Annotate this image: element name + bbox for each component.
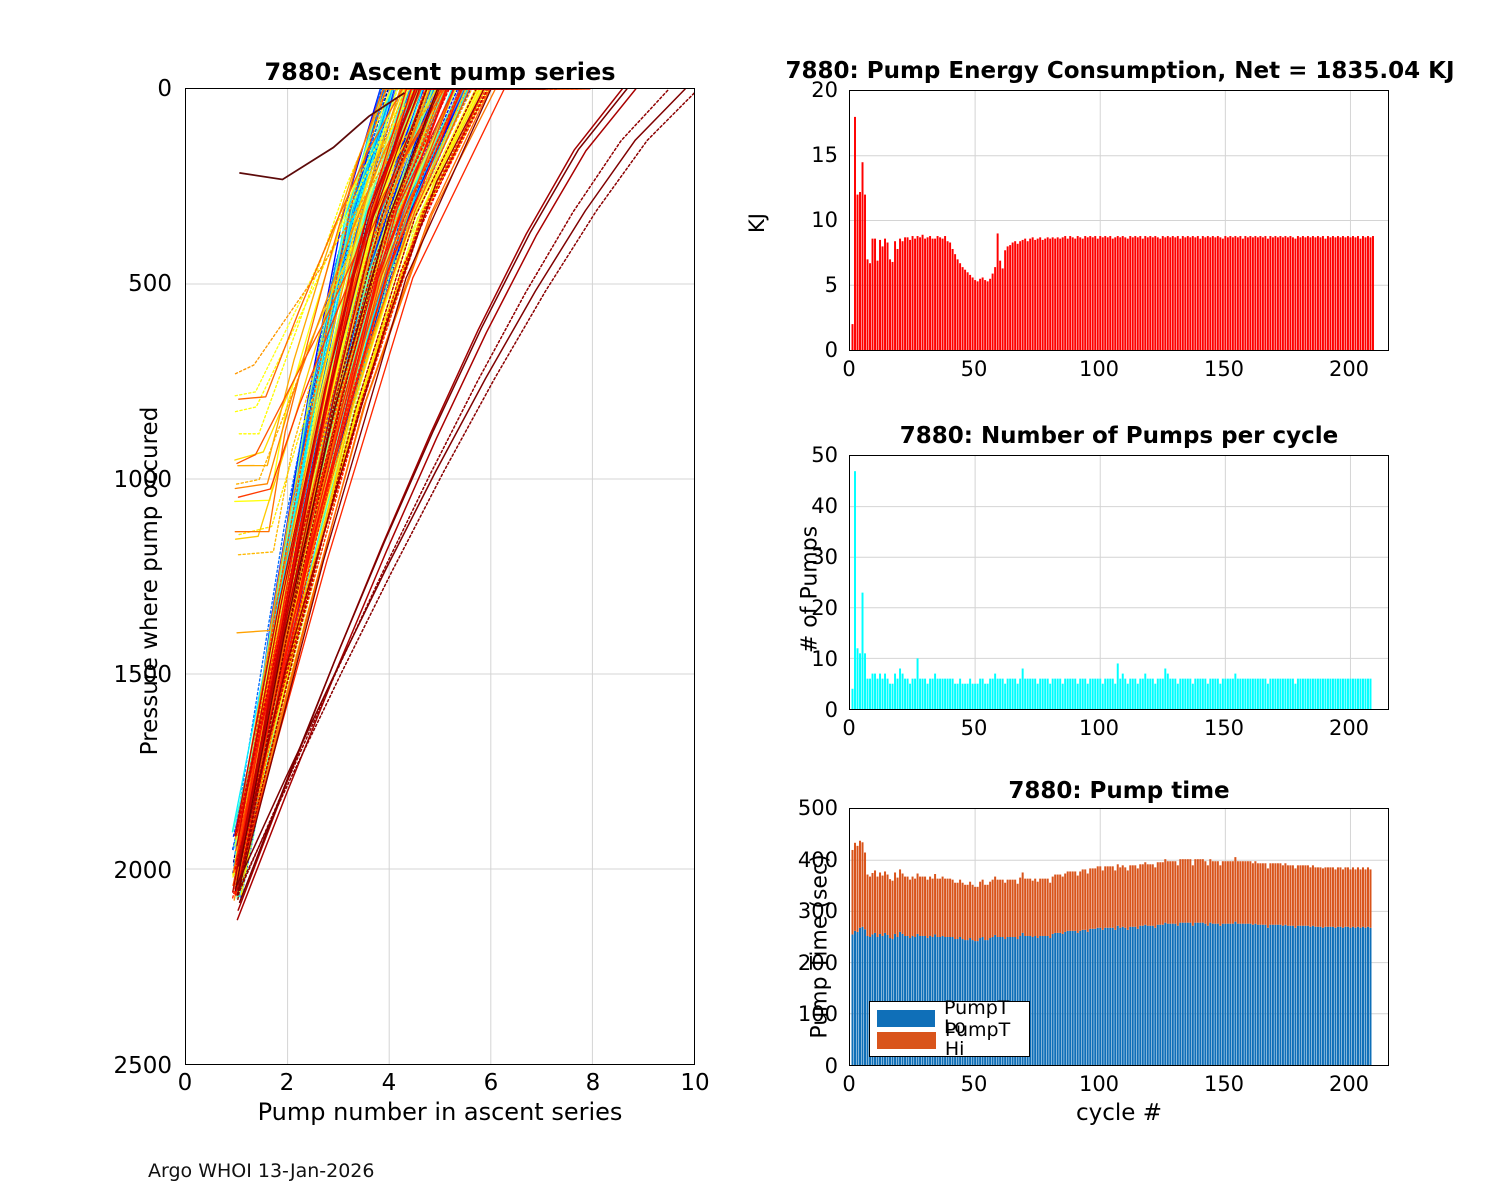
stacked-bar-segment [1199,859,1201,922]
bar [1227,679,1229,709]
bar [912,236,914,350]
stacked-bar-segment [1099,928,1101,1065]
stacked-bar-segment [1199,923,1201,1065]
bar [1347,679,1349,709]
bar [1307,679,1309,709]
stacked-bar-segment [1217,861,1219,923]
stacked-bar-segment [1322,868,1324,927]
bar [1174,237,1176,350]
bar [1332,236,1334,350]
stacked-bar-segment [1169,924,1171,1065]
stacked-bar-segment [1277,925,1279,1065]
bar [982,679,984,709]
stacked-bar-segment [922,877,924,936]
bar [1304,679,1306,709]
stacked-bar-segment [1082,869,1084,929]
bar [1370,679,1372,709]
bar [1159,239,1161,350]
pumps-plot-area[interactable] [849,455,1389,710]
bar [1007,679,1009,709]
bar [1044,679,1046,709]
stacked-bar-segment [1367,927,1369,1065]
stacked-bar-segment [1292,926,1294,1065]
stacked-bar-segment [1177,865,1179,925]
stacked-bar-segment [1204,861,1206,923]
bar [969,275,971,350]
bar [1132,237,1134,350]
bar [1267,239,1269,350]
bar [919,679,921,709]
bar [869,263,871,350]
bar [1147,237,1149,350]
bar [1274,236,1276,350]
stacked-bar-segment [959,880,961,937]
bar [1314,237,1316,350]
time-xtick-50: 50 [949,1072,999,1096]
time-panel-title: 7880: Pump time [849,778,1389,804]
legend-item-pumpt-hi[interactable]: PumpT Hi [877,1029,1021,1051]
ascent-ytick-1000: 1000 [80,467,172,493]
bar [887,679,889,709]
bar [1252,237,1254,350]
stacked-bar-segment [1139,864,1141,925]
bar [1017,244,1019,350]
stacked-bar-segment [967,885,969,940]
bar [1009,245,1011,350]
stacked-bar-segment [1339,867,1341,926]
stacked-bar-segment [1174,861,1176,923]
stacked-bar-segment [894,872,896,933]
bar [964,270,966,350]
bar [917,658,919,709]
time-x-axis-label: cycle # [849,1100,1389,1126]
bar [1312,679,1314,709]
stacked-bar-segment [984,885,986,940]
bar [867,259,869,350]
bar [1289,679,1291,709]
stacked-bar-segment [1264,925,1266,1065]
stacked-bar-segment [1252,925,1254,1065]
ascent-plot-area[interactable] [185,88,695,1065]
bar [872,674,874,709]
ascent-xtick-0: 0 [155,1070,215,1096]
bar [1037,684,1039,709]
bar [982,277,984,350]
stacked-bar-segment [1144,925,1146,1065]
stacked-bar-segment [1192,926,1194,1065]
stacked-bar-segment [1022,872,1024,932]
bar [1357,236,1359,350]
stacked-bar-segment [1307,926,1309,1065]
bar [1357,679,1359,709]
bar [1157,679,1159,709]
stacked-bar-segment [1207,926,1209,1065]
bar [1159,679,1161,709]
bar [882,679,884,709]
stacked-bar-segment [949,879,951,937]
stacked-bar-segment [1189,859,1191,922]
bar [894,674,896,709]
stacked-bar-segment [1084,930,1086,1065]
bar [1294,684,1296,709]
bar [977,684,979,709]
stacked-bar-segment [1229,924,1231,1065]
bar [1019,679,1021,709]
bar [854,471,856,709]
bar [1104,679,1106,709]
bar [1024,679,1026,709]
stacked-bar-segment [1359,869,1361,927]
bar [877,261,879,350]
stacked-bar-segment [1072,871,1074,930]
stacked-bar-segment [1162,862,1164,924]
stacked-bar-segment [1309,867,1311,926]
bar [1029,239,1031,350]
stacked-bar-segment [1122,927,1124,1065]
bar [987,684,989,709]
bar [1292,237,1294,350]
bar [1122,674,1124,709]
bar [1189,679,1191,709]
stacked-bar-segment [1302,865,1304,925]
bar [1289,236,1291,350]
bar [862,162,864,350]
bar [1084,236,1086,350]
stacked-bar-segment [1074,871,1076,930]
bar [1232,237,1234,350]
legend-label-pumpt-hi: PumpT Hi [945,1021,1021,1059]
stacked-bar-segment [1304,926,1306,1065]
stacked-bar-segment [1264,863,1266,924]
bar [1354,237,1356,350]
bar [924,239,926,350]
stacked-bar-segment [1322,928,1324,1065]
stacked-bar-segment [1282,926,1284,1065]
bar [979,679,981,709]
stacked-bar-segment [1287,865,1289,925]
stacked-bar-segment [1102,870,1104,929]
stacked-bar-segment [992,880,994,937]
bar [952,249,954,350]
stacked-bar-segment [1024,879,1026,936]
bar [1177,236,1179,350]
stacked-bar-segment [1044,879,1046,936]
bar [1107,679,1109,709]
stacked-bar-segment [862,927,864,1065]
bar [999,261,1001,350]
stacked-bar-segment [1347,927,1349,1065]
stacked-bar-segment [857,846,859,932]
stacked-bar-segment [909,880,911,938]
stacked-bar-segment [1104,928,1106,1065]
pump-time-legend[interactable]: PumpT Lo PumpT Hi [869,1001,1030,1057]
stacked-bar-segment [1329,927,1331,1065]
bar [1194,679,1196,709]
stacked-bar-segment [1302,926,1304,1065]
pumps-bars-svg [850,456,1388,709]
bar [1102,684,1104,709]
bar [969,679,971,709]
bar [1197,679,1199,709]
bar [1067,239,1069,350]
bar [1339,679,1341,709]
stacked-bar-segment [889,879,891,938]
stacked-bar-segment [914,879,916,937]
bar [929,679,931,709]
stacked-bar-segment [1299,865,1301,925]
bar [962,267,964,350]
bar [857,195,859,350]
bar [1247,237,1249,350]
bar [994,674,996,709]
bar [1127,239,1129,350]
ascent-xtick-2: 2 [257,1070,317,1096]
bar [1352,236,1354,350]
bar [1214,679,1216,709]
bar [1139,236,1141,350]
stacked-bar-segment [1004,883,1006,939]
bar [1164,237,1166,350]
bar [994,267,996,350]
stacked-bar-segment [1227,924,1229,1065]
stacked-bar-segment [1052,877,1054,934]
bar [1317,236,1319,350]
ascent-profile-lines [232,89,694,920]
bar [919,237,921,350]
stacked-bar-segment [1132,927,1134,1065]
stacked-bar-segment [932,879,934,937]
bar [1292,679,1294,709]
bar [1189,237,1191,350]
stacked-bar-segment [1272,925,1274,1065]
energy-xtick-100: 100 [1074,357,1124,381]
stacked-bar-segment [1332,927,1334,1065]
stacked-bar-segment [874,870,876,932]
stacked-bar-segment [1124,928,1126,1065]
bar [1157,237,1159,350]
bar [1069,236,1071,350]
bar [1042,240,1044,350]
stacked-bar-segment [1304,865,1306,925]
stacked-bar-segment [1214,924,1216,1065]
bar [942,679,944,709]
bar [1112,239,1114,350]
bar [1144,236,1146,350]
bar [1149,679,1151,709]
bar [934,674,936,709]
bar [954,684,956,709]
stacked-bar-segment [1002,880,1004,937]
stacked-bar-segment [857,932,859,1065]
bar [1147,679,1149,709]
bar [932,239,934,350]
stacked-bar-segment [924,877,926,936]
bar [957,259,959,350]
bar [1067,679,1069,709]
bar [1257,237,1259,350]
bar [1324,239,1326,350]
bar [1134,236,1136,350]
bar [962,684,964,709]
bar [1072,679,1074,709]
stacked-bar-segment [1294,928,1296,1065]
stacked-bar-segment [1362,927,1364,1065]
stacked-bar-segment [862,842,864,926]
stacked-bar-segment [1052,934,1054,1065]
bar [1202,236,1204,350]
time-ytick-500: 500 [752,796,838,820]
bar [1242,679,1244,709]
bar [1317,679,1319,709]
bar [1132,679,1134,709]
stacked-bar-segment [1062,877,1064,934]
bar [1102,237,1104,350]
energy-plot-area[interactable] [849,90,1389,351]
bar [1269,679,1271,709]
bar [1092,237,1094,350]
bar [1184,679,1186,709]
stacked-bar-segment [1274,925,1276,1065]
stacked-bar-segment [1274,863,1276,924]
stacked-bar-segment [1284,925,1286,1065]
bar [989,279,991,350]
stacked-bar-segment [1034,879,1036,936]
bar [1334,679,1336,709]
bar [1224,236,1226,350]
bar [1169,237,1171,350]
stacked-bar-segment [1087,874,1089,932]
bar [1007,246,1009,350]
bar [1239,236,1241,350]
stacked-bar-segment [892,881,894,939]
bar [1034,240,1036,350]
bar [992,274,994,350]
stacked-bar-segment [904,877,906,936]
stacked-bar-segment [957,883,959,939]
bar [1152,237,1154,350]
bar [884,674,886,709]
bar [1284,236,1286,350]
stacked-bar-segment [1107,866,1109,927]
stacked-bar-segment [1049,883,1051,938]
bar [1059,239,1061,350]
stacked-bar-segment [1139,926,1141,1065]
stacked-bar-segment [1247,924,1249,1065]
bar [1089,679,1091,709]
stacked-bar-segment [1119,867,1121,927]
bar [947,241,949,350]
ascent-xtick-4: 4 [359,1070,419,1096]
bar [1327,679,1329,709]
stacked-bar-segment [1147,864,1149,925]
ascent-y-axis-label: Pressure where pump occured [137,281,163,881]
stacked-bar-segment [1222,924,1224,1065]
bar [1107,237,1109,350]
bar [1207,684,1209,709]
bar [914,679,916,709]
bar [1117,663,1119,709]
bar [1082,679,1084,709]
stacked-bar-segment [1117,926,1119,1065]
stacked-bar-segment [917,874,919,934]
stacked-bar-segment [1209,859,1211,922]
bar [1162,236,1164,350]
stacked-bar-segment [877,877,879,937]
bar [1212,236,1214,350]
stacked-bar-segment [1039,936,1041,1065]
bar [1322,679,1324,709]
bar [1247,679,1249,709]
bar [1152,679,1154,709]
stacked-bar-segment [962,883,964,939]
energy-ytick-5: 5 [760,273,838,297]
stacked-bar-segment [1097,928,1099,1065]
stacked-bar-segment [1167,861,1169,923]
bar [937,236,939,350]
bar [939,237,941,350]
bar [852,689,854,709]
bar [1019,241,1021,350]
stacked-bar-segment [1097,866,1099,927]
stacked-bar-segment [1069,931,1071,1065]
legend-swatch-pumpt-hi [877,1032,936,1049]
stacked-bar-segment [1202,923,1204,1065]
stacked-bar-segment [1034,936,1036,1065]
stacked-bar-segment [1154,928,1156,1065]
bar [902,241,904,350]
stacked-bar-segment [1182,859,1184,922]
stacked-bar-segment [1174,924,1176,1065]
bar [1259,679,1261,709]
bar [1302,679,1304,709]
bar [1227,237,1229,350]
stacked-bar-segment [1254,861,1256,923]
bar [1264,679,1266,709]
stacked-bar-segment [1019,878,1021,936]
bar [949,243,951,350]
bar [1062,684,1064,709]
stacked-bar-segment [1109,928,1111,1065]
bar [902,674,904,709]
bar [899,239,901,350]
bar [1064,679,1066,709]
stacked-bar-segment [1132,865,1134,926]
bar [1302,236,1304,350]
bar [1054,679,1056,709]
bar [897,679,899,709]
bar [1259,236,1261,350]
stacked-bar-segment [1267,928,1269,1065]
stacked-bar-segment [1292,865,1294,925]
stacked-bar-segment [1157,862,1159,924]
stacked-bar-segment [1337,867,1339,926]
stacked-bar-segment [899,869,901,931]
stacked-bar-segment [1047,936,1049,1065]
bar [1219,684,1221,709]
stacked-bar-segment [1064,932,1066,1065]
bar [1319,237,1321,350]
stacked-bar-segment [1077,876,1079,933]
bar [1372,236,1374,350]
stacked-bar-segment [1112,866,1114,927]
ascent-xtick-10: 10 [665,1070,725,1096]
stacked-bar-segment [1149,926,1151,1065]
stacked-bar-segment [1087,932,1089,1065]
stacked-bar-segment [1114,870,1116,929]
stacked-bar-segment [1084,869,1086,929]
stacked-bar-segment [929,877,931,936]
stacked-bar-segment [1257,863,1259,924]
